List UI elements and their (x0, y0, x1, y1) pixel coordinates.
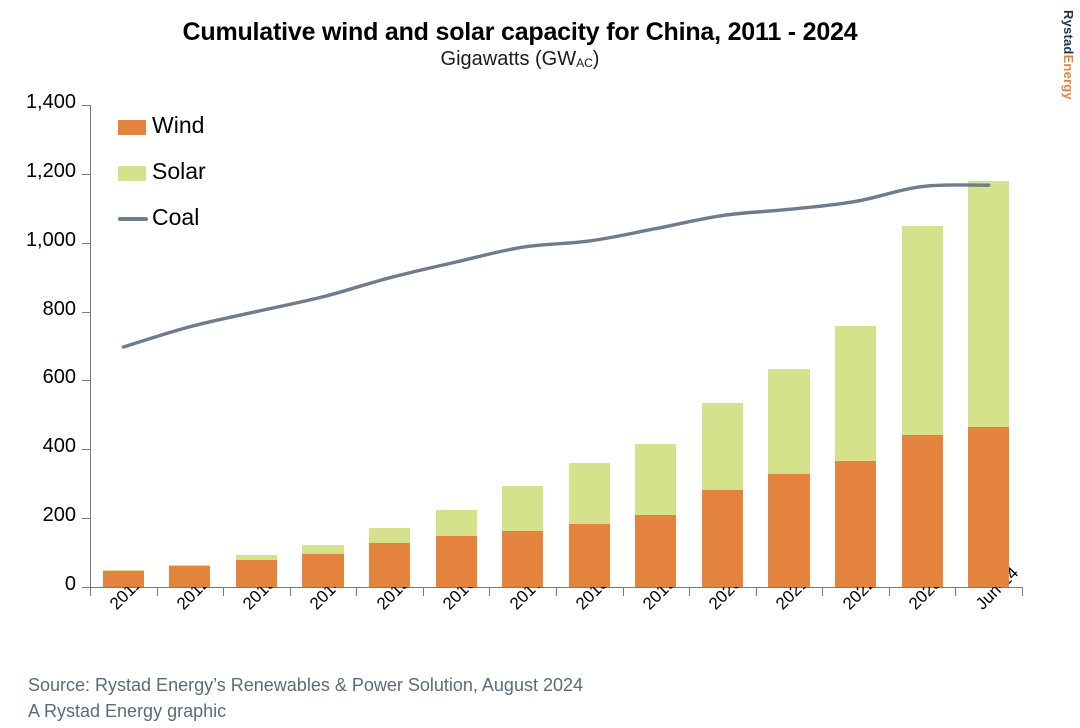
plot-area (90, 105, 1022, 587)
legend-swatch (118, 166, 146, 181)
y-axis-tick (82, 174, 90, 175)
y-axis-label: 1,000 (0, 229, 76, 252)
legend-label: Solar (152, 158, 206, 185)
y-axis-tick (82, 380, 90, 381)
y-axis-label: 200 (0, 504, 76, 527)
y-axis-label: 400 (0, 435, 76, 458)
rystad-energy-logo: RystadEnergy (1061, 10, 1076, 100)
y-axis-tick (82, 105, 90, 106)
y-axis-tick (82, 312, 90, 313)
x-axis-tick (290, 587, 291, 596)
legend-label: Wind (152, 112, 204, 139)
source-note: Source: Rystad Energy’s Renewables & Pow… (28, 672, 583, 724)
y-axis-label: 600 (0, 366, 76, 389)
source-line-1: Source: Rystad Energy’s Renewables & Pow… (28, 672, 583, 698)
legend-swatch (118, 120, 146, 135)
source-line-2: A Rystad Energy graphic (28, 698, 583, 724)
x-axis-tick (689, 587, 690, 596)
x-axis-tick (822, 587, 823, 596)
y-axis-label: 1,200 (0, 160, 76, 183)
y-axis-tick (82, 587, 90, 588)
x-axis-tick (223, 587, 224, 596)
chart-root: RystadEnergy Cumulative wind and solar c… (0, 0, 1080, 728)
x-axis-tick (90, 587, 91, 596)
y-axis-label: 800 (0, 298, 76, 321)
coal-line-path (123, 185, 988, 347)
coal-line-series (90, 105, 1022, 587)
y-axis-tick (82, 449, 90, 450)
x-axis-tick (356, 587, 357, 596)
y-axis-label: 1,400 (0, 91, 76, 114)
subtitle-subscript: AC (576, 56, 593, 70)
brand-energy: Energy (1061, 55, 1076, 100)
subtitle-tail: ) (593, 48, 600, 70)
brand-rystad: Rystad (1061, 10, 1076, 55)
x-axis-tick (423, 587, 424, 596)
x-axis-tick (623, 587, 624, 596)
y-axis-tick (82, 243, 90, 244)
legend-line-marker (118, 217, 148, 221)
x-axis-tick (489, 587, 490, 596)
x-axis-tick (1022, 587, 1023, 596)
x-axis-tick (157, 587, 158, 596)
subtitle-main: Gigawatts (GW (441, 48, 577, 70)
chart-subtitle: Gigawatts (GWAC) (0, 48, 1040, 71)
x-axis-tick (556, 587, 557, 596)
y-axis-tick (82, 518, 90, 519)
legend-label: Coal (152, 204, 199, 231)
chart-title: Cumulative wind and solar capacity for C… (0, 18, 1040, 47)
x-axis-tick (955, 587, 956, 596)
x-axis-tick (756, 587, 757, 596)
x-axis-tick (889, 587, 890, 596)
y-axis-label: 0 (0, 573, 76, 596)
